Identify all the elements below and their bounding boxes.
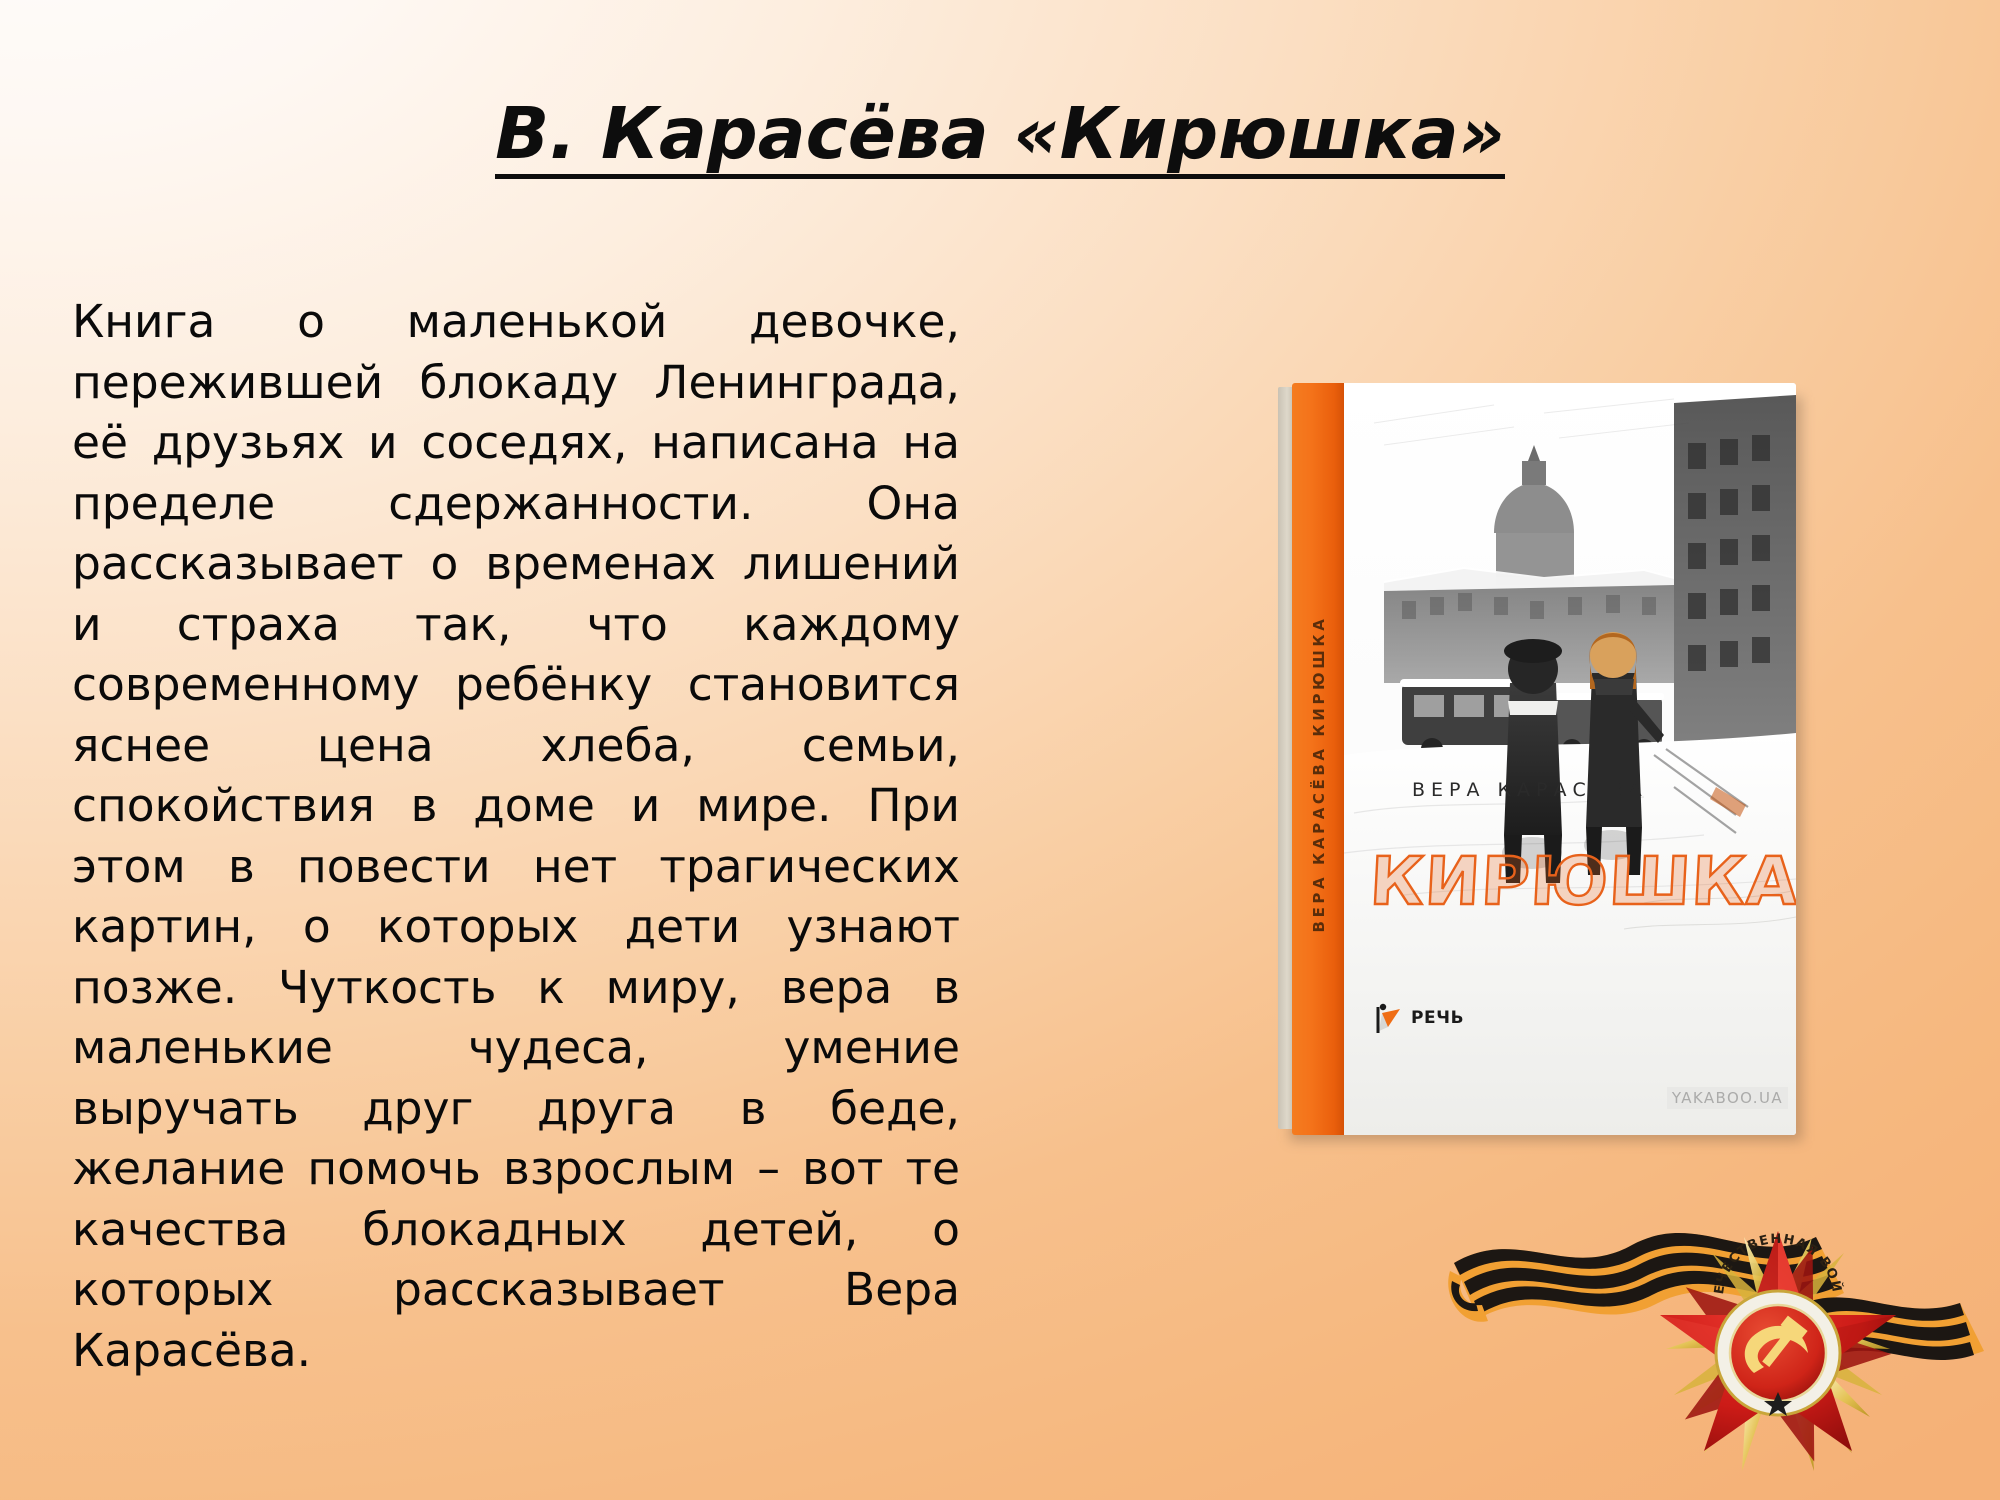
book-spine: ВЕРА КАРАСЁВА КИРЮШКА	[1292, 383, 1346, 1135]
body-text-column: Книга о маленькой девочке, пережившей бл…	[72, 292, 960, 1381]
patriotic-war-medal-icon: ОТЕЧЕСТВЕННАЯ ВОЙНА	[1448, 1185, 2000, 1500]
book-cover-image: ВЕРА КАРАСЁВА КИРЮШКА	[1278, 383, 1798, 1138]
cover-title-text: КИРЮШКА	[1368, 843, 1796, 920]
book-spine-text: ВЕРА КАРАСЁВА КИРЮШКА	[1310, 616, 1328, 933]
publisher-name: РЕЧЬ	[1411, 1008, 1464, 1028]
cover-author-name: ВЕРА КАРАСЁВА	[1412, 779, 1648, 801]
slide: В. Карасёва «Кирюшка» Книга о маленькой …	[0, 0, 2000, 1500]
image-watermark: YAKABOO.UA	[1667, 1087, 1788, 1109]
title-container: В. Карасёва «Кирюшка»	[0, 96, 2000, 179]
book-description-paragraph: Книга о маленькой девочке, пережившей бл…	[72, 292, 960, 1381]
rech-mark-icon	[1374, 1001, 1404, 1035]
page-title: В. Карасёва «Кирюшка»	[495, 96, 1505, 179]
book-front-cover: ВЕРА КАРАСЁВА КИРЮШКА РЕЧЬ YAKABOO.UA	[1344, 383, 1796, 1135]
publisher-logo: РЕЧЬ	[1374, 1001, 1464, 1035]
